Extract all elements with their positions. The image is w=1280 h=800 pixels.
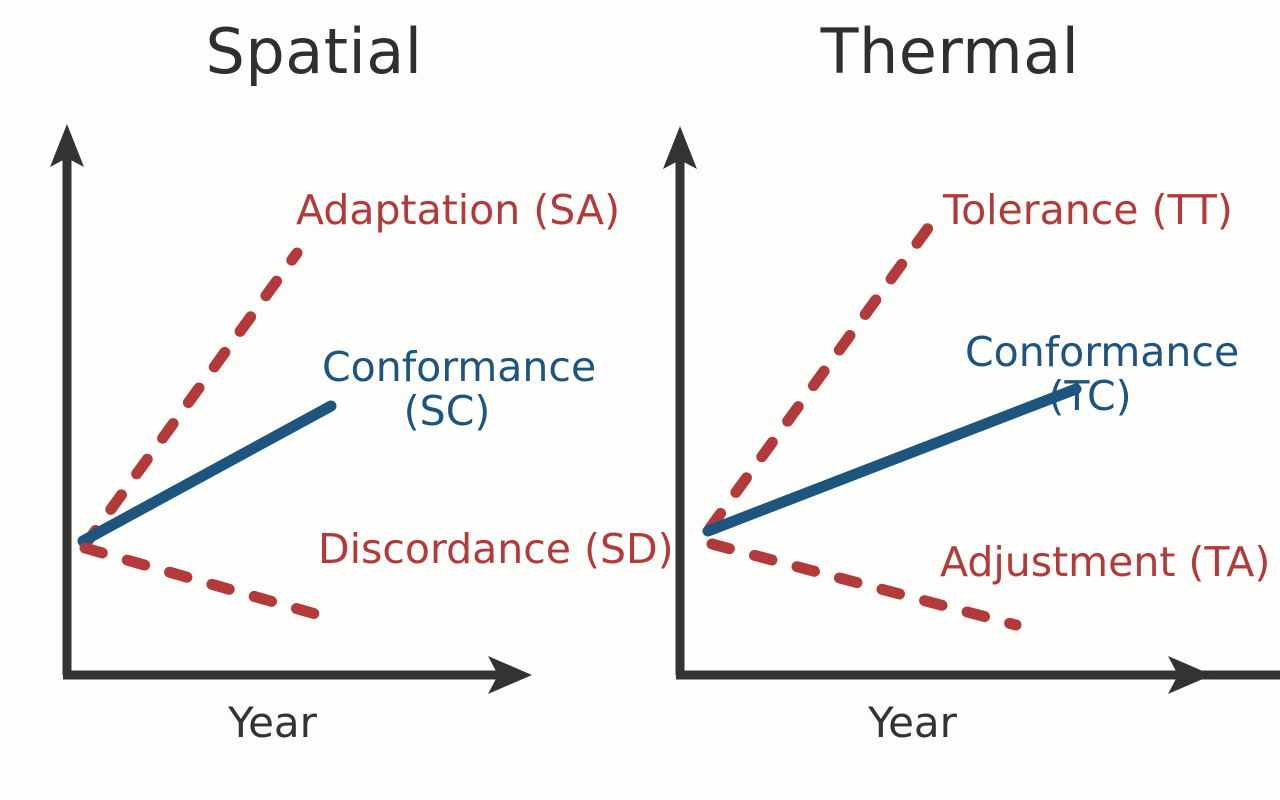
chart-panel-spatial: Spatial Adaptation (SA) Conformance (SC): [0, 0, 640, 800]
series-label-conformance-sc-line1: Conformance: [322, 345, 572, 389]
series-label-tolerance-tt: Tolerance (TT): [943, 188, 1233, 232]
x-axis-label-spatial: Year: [228, 698, 317, 747]
series-label-conformance-sc-line2: (SC): [322, 389, 572, 433]
series-label-adjustment-ta: Adjustment (TA): [940, 540, 1270, 584]
series-label-conformance-tc: Conformance (TC): [965, 330, 1215, 419]
y-axis-thermal: [663, 126, 697, 675]
series-label-conformance-tc-line2: (TC): [965, 374, 1215, 418]
y-axis-spatial: [50, 124, 84, 675]
x-axis-thermal: [676, 656, 1280, 694]
series-line-conformance-sc: [83, 406, 331, 541]
series-line-discordance-sd: [85, 548, 326, 617]
series-label-conformance-tc-line1: Conformance: [965, 330, 1215, 374]
series-label-conformance-sc: Conformance (SC): [322, 345, 572, 434]
x-axis-spatial: [63, 656, 532, 694]
figure-canvas: Spatial Adaptation (SA) Conformance (SC): [0, 0, 1280, 800]
series-line-adaptation-sa: [85, 253, 297, 545]
series-label-discordance-sd: Discordance (SD): [318, 527, 674, 571]
x-axis-label-thermal: Year: [868, 698, 957, 747]
series-label-adaptation-sa: Adaptation (SA): [296, 188, 620, 232]
chart-panel-thermal: Thermal Tolerance (TT) Conformance (T: [640, 0, 1280, 800]
